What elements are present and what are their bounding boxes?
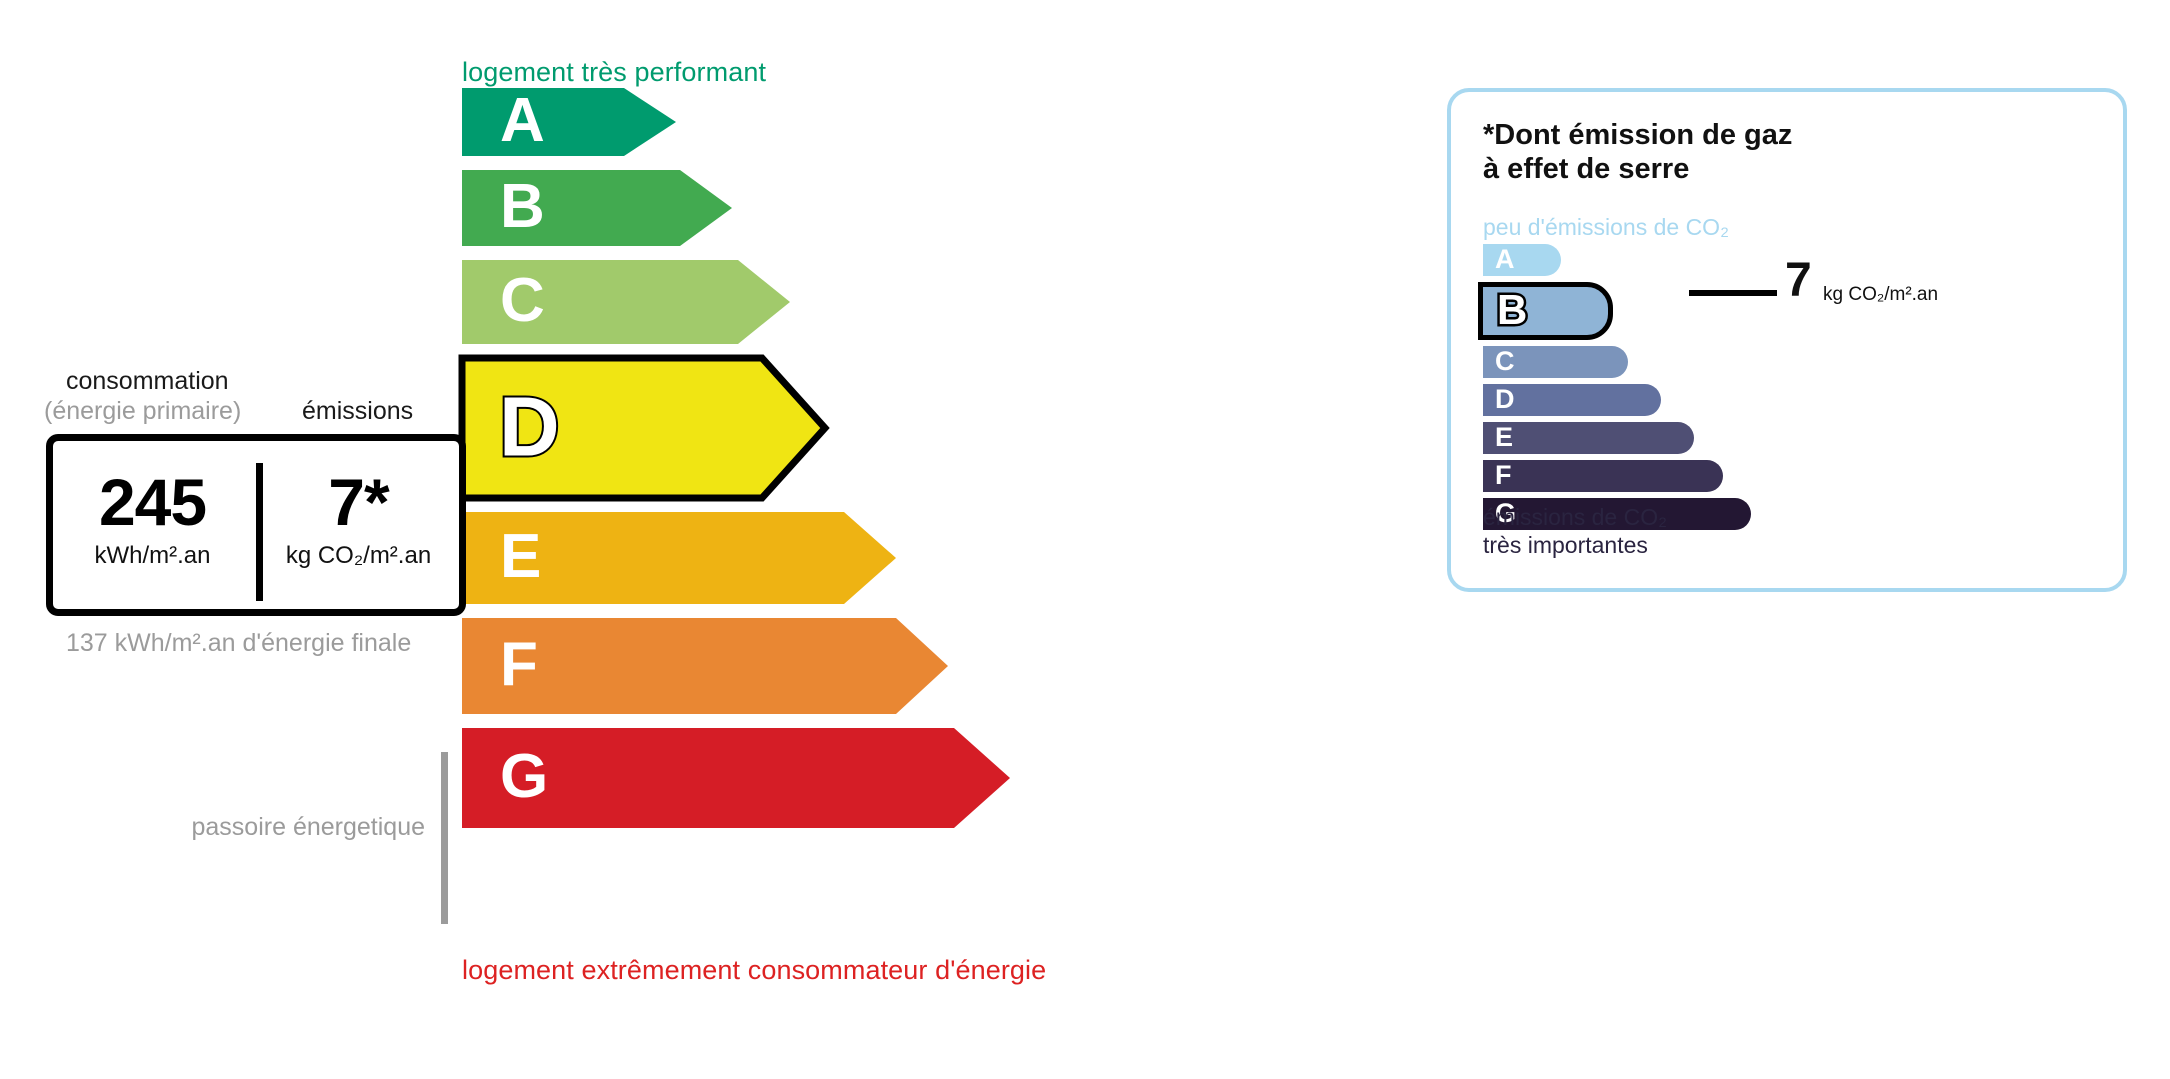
co2-bar-c: C (1483, 346, 1628, 378)
co2-bar-letter-e: E (1495, 424, 1513, 451)
emissions-label: émissions (302, 397, 413, 426)
energy-band-g: G (462, 728, 1010, 828)
energy-performance-diagram: logement très performant ABCDEFG consomm… (0, 0, 1400, 1079)
co2-bar-letter-b: B (1497, 289, 1527, 331)
consumption-label: consommation (66, 367, 229, 396)
co2-bar-letter-a: A (1495, 246, 1515, 273)
band-letter-e: E (500, 526, 541, 588)
energy-band-c: C (462, 260, 790, 344)
band-letter-a: A (500, 90, 545, 152)
consumption-unit: kWh/m².an (55, 541, 250, 571)
consumption-sublabel: (énergie primaire) (44, 397, 241, 426)
emission-readout: 7* kg CO₂/m².an (261, 463, 456, 571)
co2-bar-f: F (1483, 460, 1723, 492)
energy-band-a: A (462, 88, 676, 156)
co2-top-caption: peu d'émissions de CO₂ (1483, 214, 1729, 241)
band-letter-g: G (500, 746, 548, 808)
band-letter-f: F (500, 634, 538, 696)
energy-band-d: D (455, 351, 832, 505)
co2-bar-a: A (1483, 244, 1561, 276)
co2-bar-letter-c: C (1495, 348, 1515, 375)
co2-bottom-caption: émissions de CO₂ très importantes (1483, 503, 1667, 559)
band-letter-c: C (500, 270, 545, 332)
band-letter-b: B (500, 176, 545, 238)
consumption-value: 245 (55, 463, 250, 541)
co2-bar-d: D (1483, 384, 1661, 416)
band-arrow-shape (462, 88, 676, 156)
passoire-marker-bar (441, 752, 448, 924)
co2-emissions-panel: *Dont émission de gaz à effet de serre p… (1447, 88, 2127, 592)
co2-bar-letter-d: D (1495, 386, 1515, 413)
emission-value: 7* (261, 463, 456, 541)
co2-bar-letter-f: F (1495, 462, 1512, 489)
co2-bar-b: B (1478, 282, 1613, 340)
co2-bar-e: E (1483, 422, 1694, 454)
energy-top-caption: logement très performant (462, 57, 766, 88)
co2-panel-title: *Dont émission de gaz à effet de serre (1483, 118, 1792, 186)
passoire-label: passoire énergetique (180, 812, 425, 842)
energy-bottom-caption: logement extrêmement consommateur d'éner… (462, 955, 1046, 986)
energy-band-e: E (462, 512, 896, 604)
emission-unit: kg CO₂/m².an (261, 541, 456, 571)
energy-band-b: B (462, 170, 732, 246)
consumption-readout: 245 kWh/m².an (55, 463, 250, 571)
co2-value: 7 (1785, 257, 1812, 305)
value-readout-box: 245 kWh/m².an 7* kg CO₂/m².an (46, 434, 466, 616)
energy-band-f: F (462, 618, 948, 714)
co2-value-unit: kg CO₂/m².an (1823, 285, 1938, 304)
final-energy-note: 137 kWh/m².an d'énergie finale (66, 628, 411, 658)
co2-leader-line (1689, 290, 1777, 296)
band-letter-d: D (499, 384, 560, 468)
